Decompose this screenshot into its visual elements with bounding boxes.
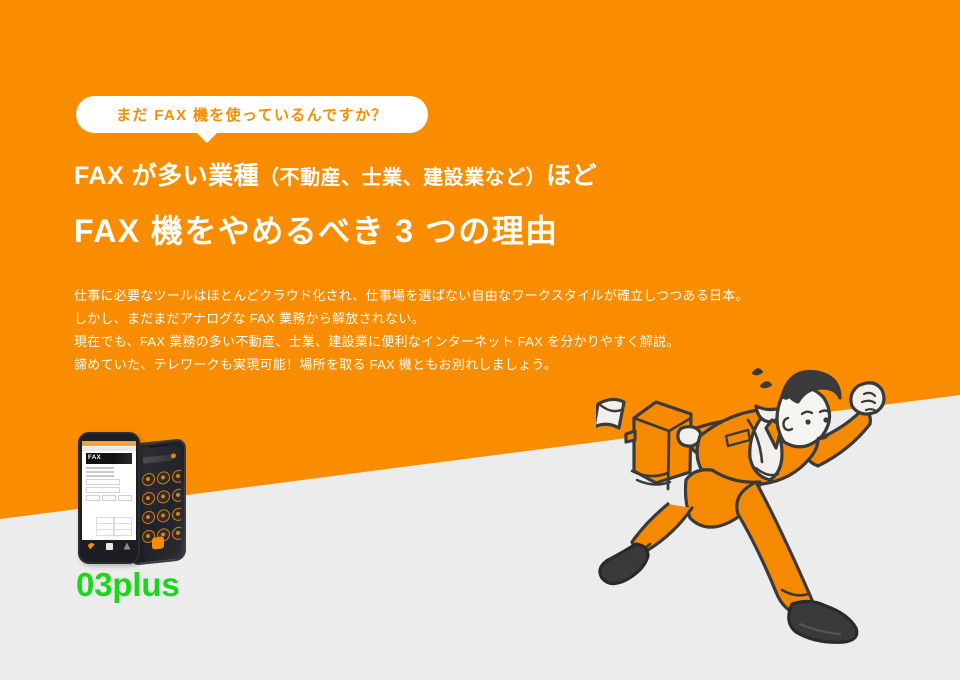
headline-sub-part-b: ほど <box>546 162 597 190</box>
shoe <box>789 601 857 642</box>
badge: まだ FAX 機を使っているんですか？ <box>76 96 428 133</box>
body-line: しかし、まだまだアナログな FAX 業務から解放されない。 <box>74 307 749 330</box>
flying-paper-icon <box>596 399 624 428</box>
logo-03plus: 03plus <box>76 566 180 604</box>
keypad-key <box>157 490 170 504</box>
phone-mockups: FAX <box>72 432 208 572</box>
headline-sub-part-a: FAX が多い業種 <box>74 162 259 190</box>
keypad-key <box>142 491 155 505</box>
form-buttons <box>86 495 132 501</box>
keypad-key <box>142 472 155 486</box>
sweat-drops-icon <box>753 369 771 387</box>
dialed-number-display <box>143 454 173 463</box>
keypad-key <box>172 526 181 540</box>
smartphone-fax-app-mockup: FAX <box>78 432 140 564</box>
keypad-key <box>157 509 170 523</box>
body-line: 現在でも、FAX 業務の多い不動産、士業、建設業に便利なインターネット FAX … <box>74 330 749 353</box>
fax-table <box>96 517 132 536</box>
keypad-key <box>172 488 181 502</box>
phone-notch <box>99 435 119 439</box>
keypad-icon <box>106 543 113 550</box>
app-bottom-nav <box>82 540 136 552</box>
keypad-key <box>172 469 181 483</box>
hero-banner: まだ FAX 機を使っているんですか？ FAX が多い業種（不動産、士業、建設業… <box>0 0 960 680</box>
running-businessman-illustration <box>596 358 926 648</box>
fax-screen-title: FAX <box>86 453 132 464</box>
fax-icon <box>88 543 95 550</box>
dialpad-screen <box>135 445 181 560</box>
speech-bubble-pointer-icon <box>196 132 218 143</box>
body-line: 仕事に必要なツールはほとんどクラウド化され、仕事場を選ばない自由なワークスタイル… <box>74 284 749 307</box>
app-status-bar <box>82 441 136 446</box>
keypad-key <box>142 510 155 524</box>
form-labels <box>86 467 132 477</box>
keypad-key <box>172 507 181 521</box>
shoe <box>600 544 648 584</box>
page-title: FAX 機をやめるべき 3 つの理由 <box>74 206 559 252</box>
keypad-key <box>157 471 170 485</box>
headline-subline: FAX が多い業種（不動産、士業、建設業など）ほど <box>74 156 597 192</box>
headline-sub-paren: （不動産、士業、建設業など） <box>259 167 546 189</box>
badge-label: まだ FAX 機を使っているんですか？ <box>76 96 428 133</box>
form-fields <box>86 479 132 493</box>
call-button-icon <box>152 536 164 549</box>
menu-icon <box>124 543 131 550</box>
app-subheader <box>82 447 136 451</box>
raised-fist-icon <box>851 383 884 414</box>
keypad-grid <box>142 468 174 545</box>
fax-app-screen: FAX <box>82 441 136 552</box>
